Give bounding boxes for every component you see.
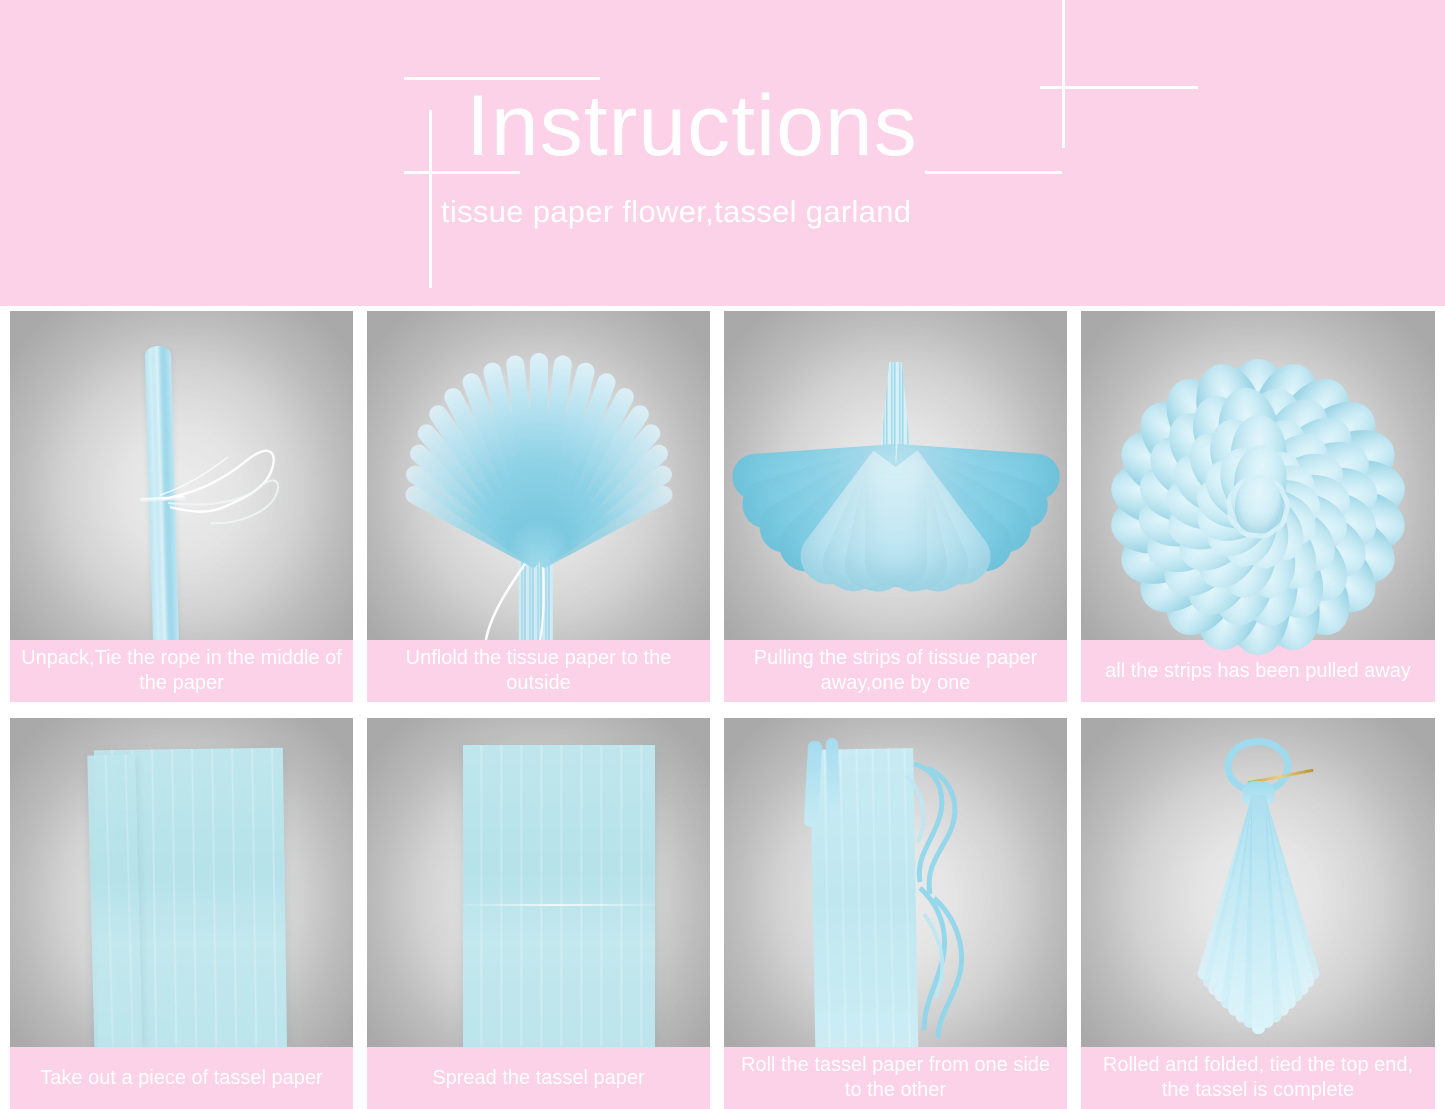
step-caption-text-4: all the strips has been pulled away — [1087, 659, 1429, 684]
header-banner: Instructions tissue paper flower,tassel … — [0, 0, 1445, 306]
header-rule-top-right — [1040, 86, 1198, 89]
step-caption-text-6: Spread the tassel paper — [373, 1066, 704, 1091]
step-caption-1: Unpack,Tie the rope in the middle of the… — [10, 640, 353, 702]
page-title: Instructions — [466, 78, 918, 174]
step-card-5: Take out a piece of tassel paper — [10, 718, 353, 1109]
tissue-petal — [865, 467, 927, 587]
spread-paper-sheet — [463, 745, 655, 1062]
step-card-2: Unflold the tissue paper to the outside — [367, 311, 710, 702]
tassel-strand — [1252, 796, 1265, 1034]
step-card-6: Spread the tassel paper — [367, 718, 710, 1109]
step-card-1: Unpack,Tie the rope in the middle of the… — [10, 311, 353, 702]
step-caption-7: Roll the tassel paper from one side to t… — [724, 1047, 1067, 1109]
step-card-4: all the strips has been pulled away — [1081, 311, 1435, 702]
step-caption-3: Pulling the strips of tissue paper away,… — [724, 640, 1067, 702]
step-caption-text-3: Pulling the strips of tissue paper away,… — [730, 646, 1061, 696]
step-card-7: Roll the tassel paper from one side to t… — [724, 718, 1067, 1109]
step-card-3: Pulling the strips of tissue paper away,… — [724, 311, 1067, 702]
step-caption-text-8: Rolled and folded, tied the top end, the… — [1087, 1053, 1429, 1103]
tassel-paper-sheet-under — [87, 755, 142, 1061]
page-subtitle: tissue paper flower,tassel garland — [441, 192, 911, 232]
step-card-8: Rolled and folded, tied the top end, the… — [1081, 718, 1435, 1109]
step-caption-text-2: Unflold the tissue paper to the outside — [373, 646, 704, 696]
header-rule-vertical-right — [1062, 0, 1065, 148]
steps-grid: Unpack,Tie the rope in the middle of the… — [0, 306, 1445, 1109]
header-rule-vertical-left — [429, 110, 432, 288]
step-caption-text-5: Take out a piece of tassel paper — [16, 1066, 347, 1091]
step-caption-2: Unflold the tissue paper to the outside — [367, 640, 710, 702]
cinched-top — [880, 362, 911, 456]
header-rule-mid-right — [925, 171, 1062, 174]
step-caption-text-1: Unpack,Tie the rope in the middle of the… — [16, 646, 347, 696]
step-caption-text-7: Roll the tassel paper from one side to t… — [730, 1053, 1061, 1103]
step-caption-5: Take out a piece of tassel paper — [10, 1047, 353, 1109]
step-caption-8: Rolled and folded, tied the top end, the… — [1081, 1047, 1435, 1109]
step-caption-6: Spread the tassel paper — [367, 1047, 710, 1109]
instructions-infographic: Instructions tissue paper flower,tassel … — [0, 0, 1445, 1109]
paper-fold-line — [463, 904, 655, 906]
